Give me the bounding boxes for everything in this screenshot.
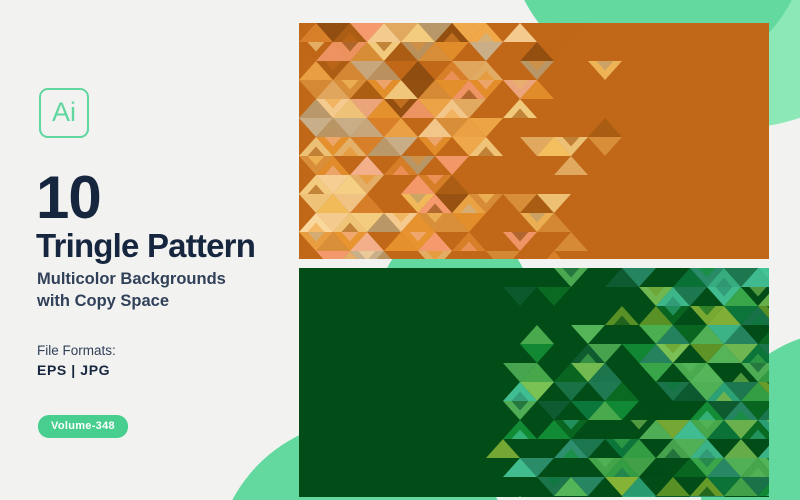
item-count: 10 (36, 168, 101, 228)
adobe-illustrator-badge-icon: Ai (39, 88, 89, 138)
subtitle-line-2: with Copy Space (37, 290, 287, 312)
info-column: Ai 10 Tringle Pattern Multicolor Backgro… (36, 0, 298, 500)
volume-badge: Volume-348 (38, 415, 128, 438)
preview-green-triangle-pattern (299, 268, 769, 497)
orange-pattern-canvas (299, 23, 769, 259)
green-pattern-canvas (299, 268, 769, 497)
preview-orange-triangle-pattern (299, 23, 769, 259)
page-title: Tringle Pattern (36, 229, 255, 262)
subtitle-line-1: Multicolor Backgrounds (37, 268, 287, 290)
file-formats-label: File Formats: (37, 343, 116, 358)
ai-badge-label: Ai (52, 99, 76, 126)
poster-canvas: Ai 10 Tringle Pattern Multicolor Backgro… (0, 0, 800, 500)
page-subtitle: Multicolor Backgrounds with Copy Space (37, 268, 287, 313)
file-formats-value: EPS | JPG (37, 362, 110, 378)
